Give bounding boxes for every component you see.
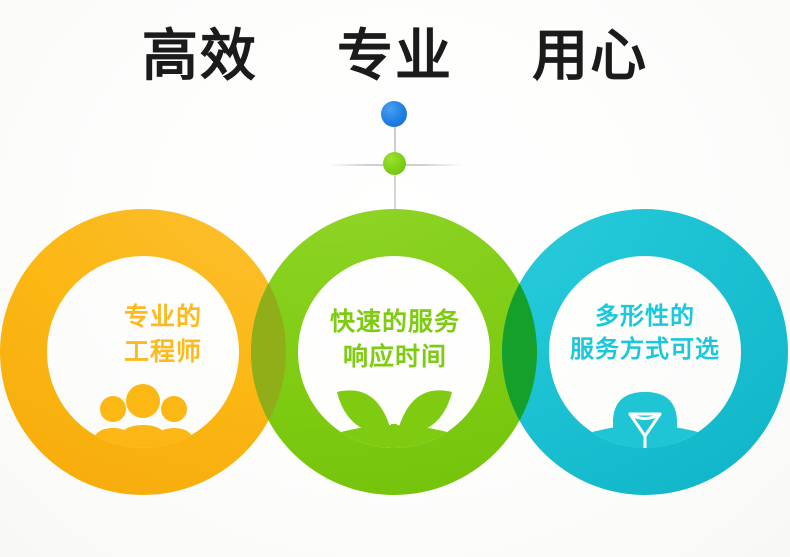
venn-rings [0, 0, 790, 557]
overlap-green-cyan [0, 0, 790, 557]
infographic-canvas: 高效 专业 用心 [0, 0, 790, 557]
